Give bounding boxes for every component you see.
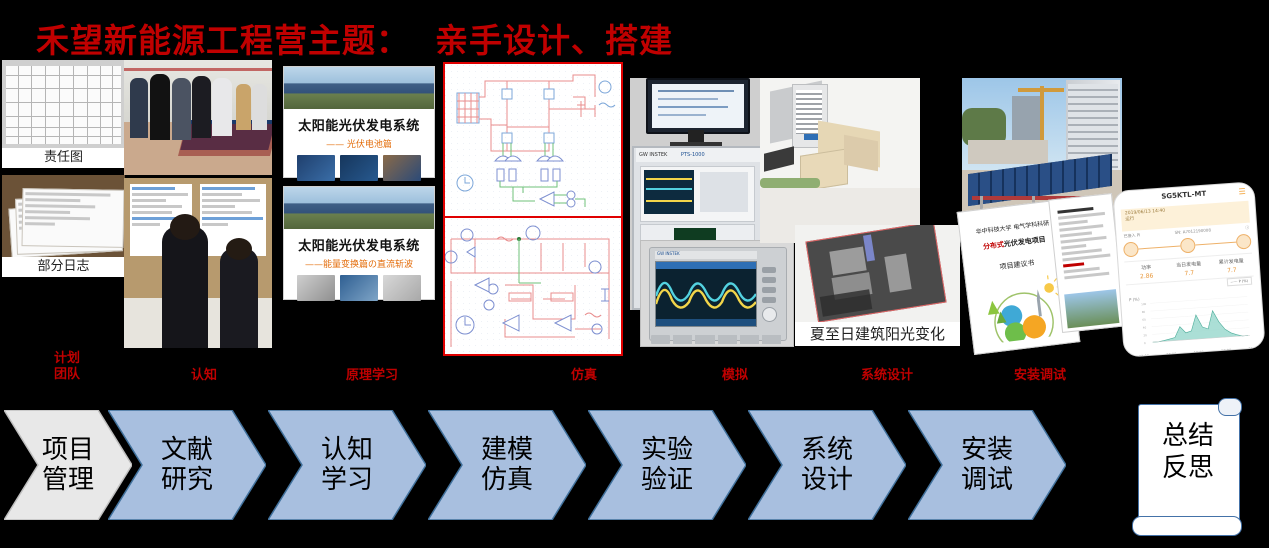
page-title: 禾望新能源工程营主题： 亲手设计、搭建 <box>36 14 673 62</box>
svg-text:60: 60 <box>1142 318 1146 322</box>
slide-thumbnails <box>284 155 434 181</box>
circuit-svg <box>445 64 621 216</box>
flow-step-label: 认知 学习 <box>321 435 373 495</box>
slide-title: 太阳能光伏发电系统 <box>284 115 434 134</box>
stage-label-system-design: 系统设计 <box>845 368 929 384</box>
flow-step-summary[interactable]: 总结 反思 <box>1138 398 1238 538</box>
proposal-rest: 光伏发电项目 <box>1003 235 1046 248</box>
inverter-icon <box>1179 238 1195 254</box>
stat-total-energy: 累计发电量 7.7 <box>1210 257 1254 276</box>
stage-label-principles: 原理学习 <box>330 368 414 384</box>
photo-sketchup-model <box>760 78 920 243</box>
flow-step-label: 项目 管理 <box>42 435 94 495</box>
caption-sketchup-shadow-study: 夏至日建筑阳光变化 <box>795 322 960 346</box>
slide-power-conversion: 太阳能光伏发电系统 ——能量变换篇の直流斩波 <box>283 186 435 300</box>
home-icon <box>1236 234 1252 250</box>
rack-model: PTS-1000 <box>681 152 705 158</box>
caption-responsibility-chart: 责任图 <box>2 148 125 168</box>
flow-step-5[interactable]: 实验 验证 <box>588 410 746 520</box>
scroll-knob-icon <box>1218 398 1242 416</box>
rack-brand: GW INSTEK <box>639 152 667 158</box>
stage-label-installation: 安装调试 <box>998 368 1082 384</box>
chart-xticks: 03:0006:0013:0017:0021:00 <box>1139 346 1259 357</box>
svg-text:80: 80 <box>1142 310 1146 314</box>
slide-subtitle: —— 光伏电池篇 <box>284 137 434 150</box>
flow-step-6[interactable]: 系统 设计 <box>748 410 906 520</box>
flow-step-4[interactable]: 建模 仿真 <box>428 410 586 520</box>
info-icon[interactable]: ⓘ <box>1245 225 1249 231</box>
power-chart: —— P (%) P (%) 100806040200 03:0006:0013… <box>1126 280 1258 357</box>
flow-step-3[interactable]: 认知 学习 <box>268 410 426 520</box>
slide-photo <box>284 187 434 229</box>
process-flow: 项目 管理文献 研究认知 学习建模 仿真实验 验证系统 设计安装 调试 <box>0 403 1269 538</box>
photo-sketchup-shadow-study <box>795 225 960 322</box>
caption-project-logs: 部分日志 <box>2 257 125 277</box>
circuit-diagram-inverter <box>443 62 623 218</box>
circuit-diagram-control <box>443 216 623 356</box>
flow-step-label: 实验 验证 <box>641 435 693 495</box>
chart-grid <box>6 66 121 144</box>
slide-title: 太阳能光伏发电系统 <box>284 235 434 254</box>
waveform <box>656 270 756 318</box>
pv-icon <box>1123 241 1139 257</box>
flow-step-label: 文献 研究 <box>161 435 213 495</box>
photo-students-at-panels <box>124 60 272 175</box>
photo-oscilloscope: GW INSTEK <box>640 240 794 347</box>
stage-label-planning: 计划 团队 <box>40 351 94 383</box>
photo-project-logs <box>2 175 125 257</box>
scope-brand: GW INSTEK <box>657 251 680 256</box>
stage-label-emulation: 模拟 <box>707 368 763 384</box>
flow-step-7[interactable]: 安装 调试 <box>908 410 1066 520</box>
slide-thumbnails <box>284 275 434 301</box>
stage-label-cognition: 认知 <box>176 368 232 384</box>
grid-label: 已接入 PI <box>1123 232 1140 239</box>
flow-step-label: 总结 反思 <box>1138 420 1238 484</box>
chart-legend: —— P (%) <box>1226 277 1252 287</box>
stat-daily-energy: 当日发电量 7.7 <box>1167 260 1211 279</box>
slide-subtitle: ——能量变换篇の直流斩波 <box>284 257 434 270</box>
serial-label: SN: A7012190008 <box>1174 227 1211 236</box>
bluetooth-icon[interactable]: ☰ <box>1238 186 1246 195</box>
chart-plot: 100806040200 <box>1137 293 1254 347</box>
stat-power: 功率 2.86 <box>1125 263 1169 282</box>
svg-text:100: 100 <box>1141 302 1147 306</box>
flow-step-2[interactable]: 文献 研究 <box>108 410 266 520</box>
flow-step-label: 系统 设计 <box>801 435 853 495</box>
svg-text:40: 40 <box>1143 325 1147 329</box>
circuit-svg <box>445 218 621 354</box>
device-name: SG5KTL-MT <box>1161 190 1206 201</box>
photo-poster-presentation <box>124 178 272 348</box>
scroll-roll-icon <box>1132 516 1242 536</box>
slide-pv-cells: 太阳能光伏发电系统 —— 光伏电池篇 <box>283 66 435 178</box>
svg-text:0: 0 <box>1144 341 1146 345</box>
photo-responsibility-chart <box>2 60 125 148</box>
proposal-highlight: 分布式 <box>983 241 1005 251</box>
svg-text:20: 20 <box>1143 333 1147 337</box>
stage-label-simulation: 仿真 <box>556 368 612 384</box>
flow-step-label: 建模 仿真 <box>481 435 533 495</box>
flow-step-label: 安装 调试 <box>961 435 1013 495</box>
phone-monitoring-app[interactable]: SG5KTL-MT ☰ 2019/06/13 14:40 运行 已接入 PI S… <box>1112 181 1265 357</box>
slide-photo <box>284 67 434 109</box>
